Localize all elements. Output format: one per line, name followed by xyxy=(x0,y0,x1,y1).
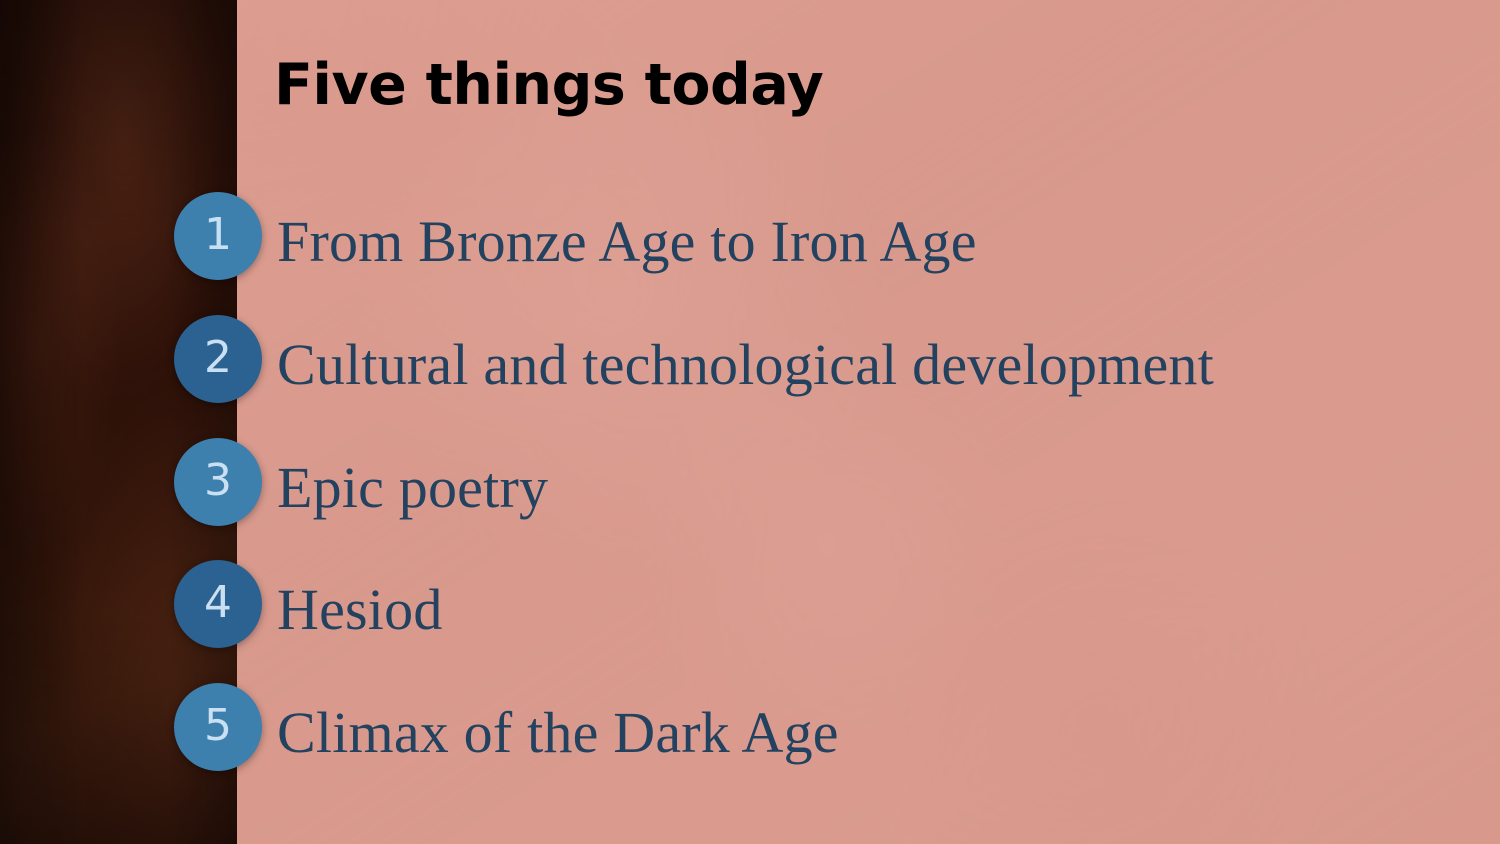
list-item-label-2: Cultural and technological development xyxy=(277,331,1214,398)
agenda-list: 1 From Bronze Age to Iron Age 2 Cultural… xyxy=(0,0,1500,844)
bullet-circle-5: 5 xyxy=(174,683,262,771)
list-item-label-5: Climax of the Dark Age xyxy=(277,699,839,766)
bullet-circle-4: 4 xyxy=(174,560,262,648)
list-item: 4 Hesiod xyxy=(0,560,1500,658)
list-item: 2 Cultural and technological development xyxy=(0,315,1500,413)
bullet-number-2: 2 xyxy=(204,336,232,380)
presentation-slide: Five things today 1 From Bronze Age to I… xyxy=(0,0,1500,844)
bullet-circle-1: 1 xyxy=(174,192,262,280)
bullet-circle-2: 2 xyxy=(174,315,262,403)
list-item: 5 Climax of the Dark Age xyxy=(0,683,1500,781)
bullet-number-1: 1 xyxy=(204,213,232,257)
list-item-label-1: From Bronze Age to Iron Age xyxy=(277,208,977,275)
list-item: 3 Epic poetry xyxy=(0,438,1500,536)
list-item: 1 From Bronze Age to Iron Age xyxy=(0,192,1500,290)
bullet-number-3: 3 xyxy=(204,459,232,503)
bullet-number-4: 4 xyxy=(204,581,232,625)
list-item-label-3: Epic poetry xyxy=(277,454,548,521)
bullet-circle-3: 3 xyxy=(174,438,262,526)
page-title: Five things today xyxy=(274,52,823,118)
list-item-label-4: Hesiod xyxy=(277,576,443,643)
bullet-number-5: 5 xyxy=(204,704,232,748)
